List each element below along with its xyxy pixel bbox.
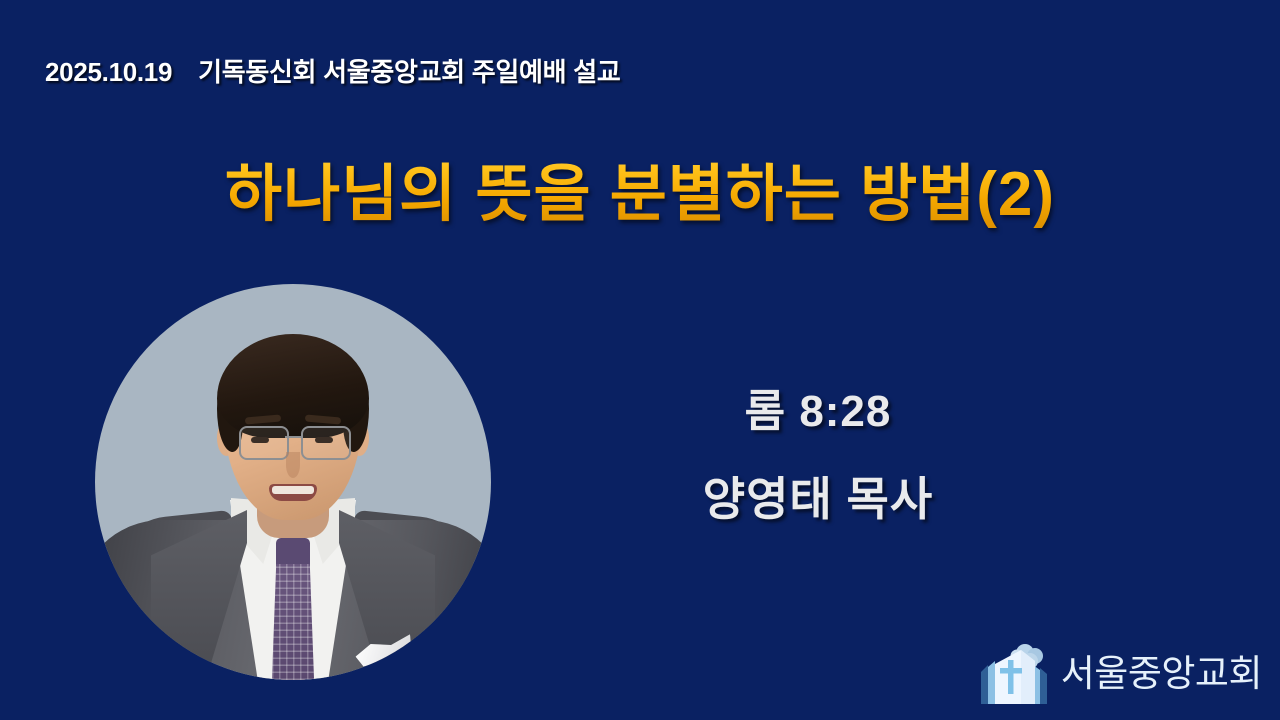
mouth	[269, 484, 317, 501]
church-logo: 서울중앙교회	[975, 640, 1262, 712]
glasses-bridge	[285, 436, 301, 438]
page-title: 하나님의 뜻을 분별하는 방법(2)	[0, 143, 1280, 233]
header-subtitle: 기독동신회 서울중앙교회 주일예배 설교	[198, 52, 620, 89]
scripture-block: 롬 8:28 양영태 목사	[600, 388, 1036, 525]
avatar	[95, 284, 491, 680]
church-name: 서울중앙교회	[1061, 655, 1262, 697]
sermon-title-slide: 2025.10.19 기독동신회 서울중앙교회 주일예배 설교 하나님의 뜻을 …	[0, 0, 1280, 720]
header-date: 2025.10.19	[45, 57, 172, 88]
necktie-knot	[276, 538, 310, 568]
nose	[286, 452, 300, 478]
preacher-portrait-image	[95, 284, 491, 680]
hair	[217, 334, 369, 438]
preacher-name: 양영태 목사	[600, 474, 1036, 525]
header-bar: 2025.10.19 기독동신회 서울중앙교회 주일예배 설교	[45, 52, 620, 89]
scripture-reference: 롬 8:28	[600, 388, 1036, 436]
open-bible-cross-icon	[975, 640, 1053, 712]
necktie-blade	[272, 564, 314, 680]
glasses-lens-right	[301, 426, 351, 460]
teeth	[272, 486, 314, 494]
glasses-lens-left	[239, 426, 289, 460]
